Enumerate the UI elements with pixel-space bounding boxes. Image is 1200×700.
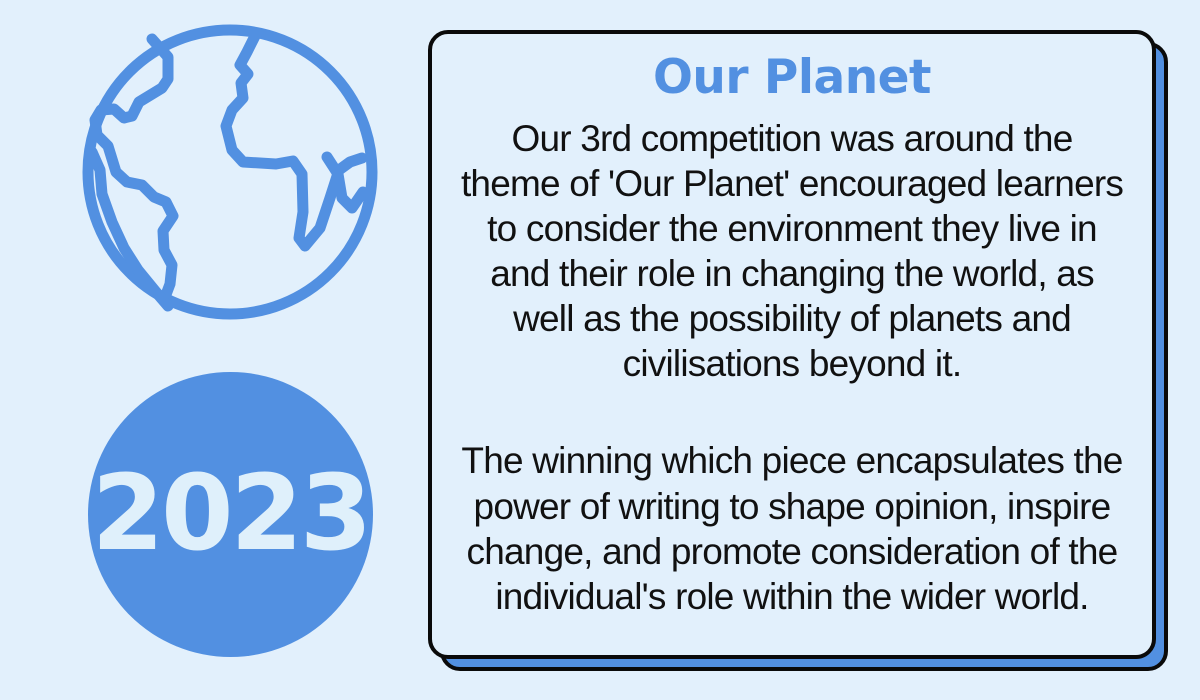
globe-icon [80, 22, 380, 322]
year-badge: 2023 [88, 372, 373, 657]
card-body: Our 3rd competition was around the theme… [458, 116, 1126, 619]
globe-africa-eurasia-path [226, 36, 362, 246]
poster-canvas: 2023 Our Planet Our 3rd competition was … [0, 0, 1200, 700]
card-title: Our Planet [653, 52, 931, 104]
card-paragraph-1: Our 3rd competition was around the theme… [458, 116, 1126, 387]
content-card-wrapper: Our Planet Our 3rd competition was aroun… [428, 30, 1172, 675]
left-column: 2023 [0, 0, 420, 700]
globe-outline-circle [88, 30, 372, 314]
content-card: Our Planet Our 3rd competition was aroun… [428, 30, 1156, 659]
year-badge-label: 2023 [92, 461, 369, 565]
card-paragraph-2: The winning which piece encapsulates the… [458, 438, 1126, 619]
